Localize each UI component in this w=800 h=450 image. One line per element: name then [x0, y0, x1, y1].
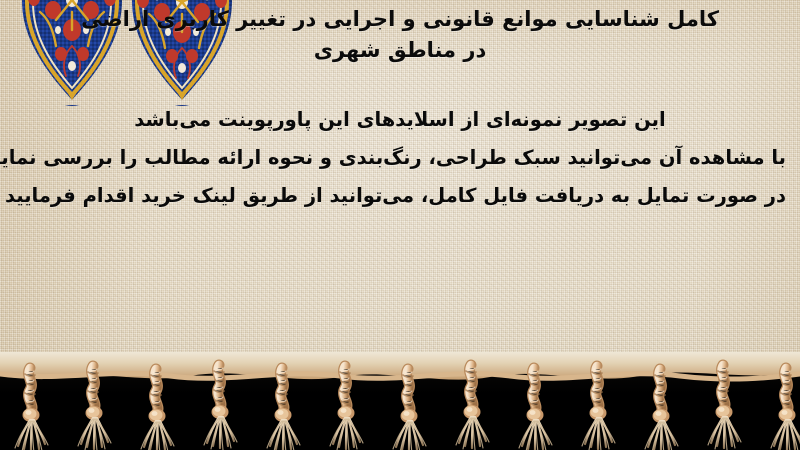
slide-body: این تصویر نمونه‌ای از اسلایدهای این پاور…	[14, 101, 786, 215]
slide-text-block: کامل شناسایی موانع قانونی و اجرایی در تغ…	[0, 0, 800, 378]
title-line-2: در مناطق شهری	[14, 35, 786, 65]
body-line-1: این تصویر نمونه‌ای از اسلایدهای این پاور…	[14, 101, 786, 139]
slide-title: کامل شناسایی موانع قانونی و اجرایی در تغ…	[14, 4, 786, 65]
slide-canvas: کامل شناسایی موانع قانونی و اجرایی در تغ…	[0, 0, 800, 450]
carpet-fringe-tassels-icon	[0, 352, 800, 450]
body-line-3: در صورت تمایل به دریافت فایل کامل، می‌تو…	[14, 177, 786, 215]
body-line-2: با مشاهده آن می‌توانید سبک طراحی، رنگ‌بن…	[14, 139, 786, 177]
title-line-1: کامل شناسایی موانع قانونی و اجرایی در تغ…	[14, 4, 786, 34]
